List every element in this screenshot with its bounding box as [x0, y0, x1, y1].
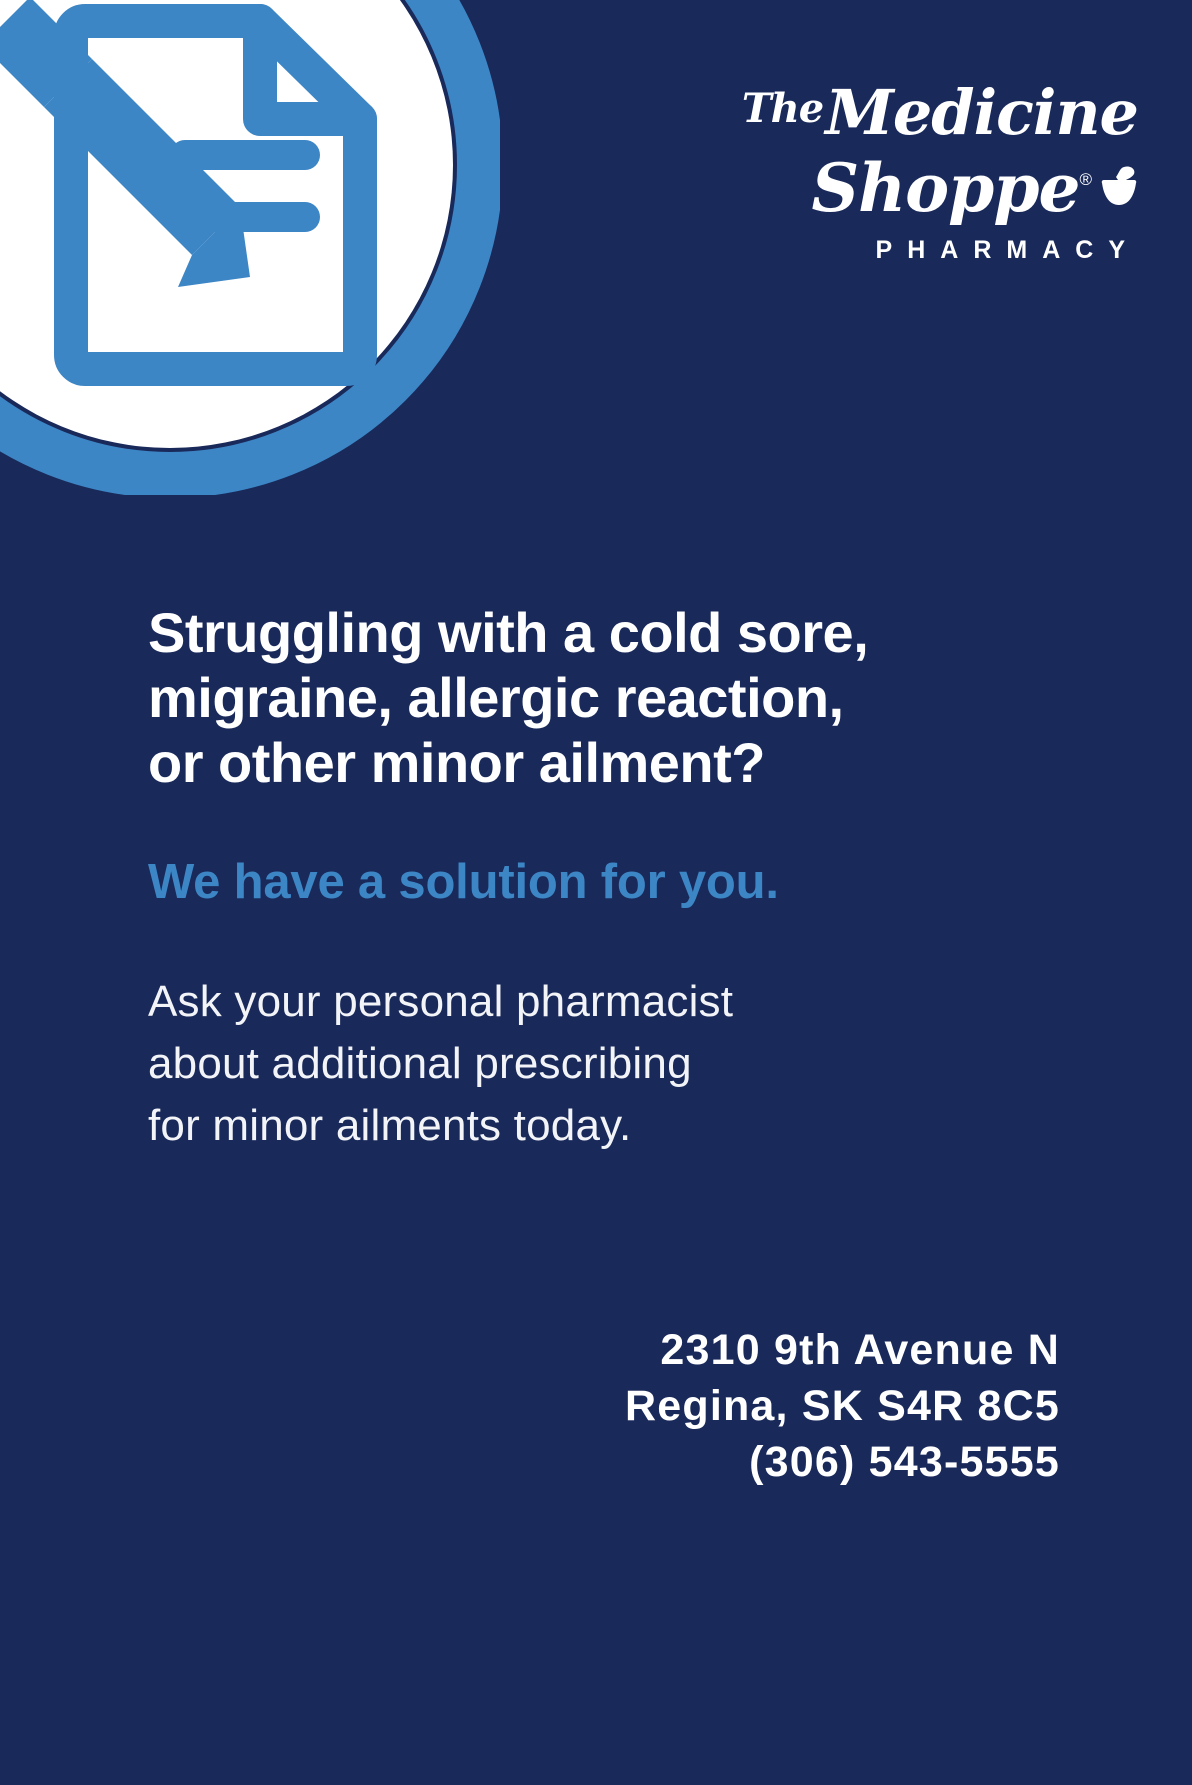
- body-line-3: for minor ailments today.: [148, 1101, 631, 1150]
- poster-root: TheMedicine Shoppe® PHARMACY Struggling …: [0, 0, 1192, 1785]
- brand-logo: TheMedicine Shoppe® PHARMACY: [722, 78, 1142, 265]
- body-line-2: about additional prescribing: [148, 1039, 692, 1088]
- copy-block: Struggling with a cold sore, migraine, a…: [148, 600, 1028, 1157]
- headline-line-3: or other minor ailment?: [148, 731, 765, 794]
- subheadline: We have a solution for you.: [148, 853, 1028, 911]
- body-copy: Ask your personal pharmacist about addit…: [148, 971, 1028, 1157]
- address-street: 2310 9th Avenue N: [625, 1322, 1060, 1378]
- logo-line-medicine: TheMedicine: [722, 78, 1142, 144]
- headline-line-1: Struggling with a cold sore,: [148, 601, 868, 664]
- logo-the: The: [742, 85, 825, 132]
- registered-trademark-icon: ®: [1079, 170, 1092, 189]
- logo-shoppe: Shoppe: [812, 149, 1080, 227]
- address-phone[interactable]: (306) 543-5555: [625, 1434, 1060, 1490]
- logo-medicine: Medicine: [825, 76, 1138, 149]
- logo-line-shoppe: Shoppe®: [722, 144, 1142, 226]
- page-title: Struggling with a cold sore, migraine, a…: [148, 600, 1028, 795]
- badge-circle: [0, 0, 500, 495]
- address-city-province-postal: Regina, SK S4R 8C5: [625, 1378, 1060, 1434]
- logo-pharmacy-word: PHARMACY: [722, 236, 1142, 265]
- store-address-block: 2310 9th Avenue N Regina, SK S4R 8C5 (30…: [625, 1322, 1060, 1490]
- mortar-and-pestle-icon: [1094, 154, 1140, 226]
- headline-line-2: migraine, allergic reaction,: [148, 666, 844, 729]
- body-line-1: Ask your personal pharmacist: [148, 977, 733, 1026]
